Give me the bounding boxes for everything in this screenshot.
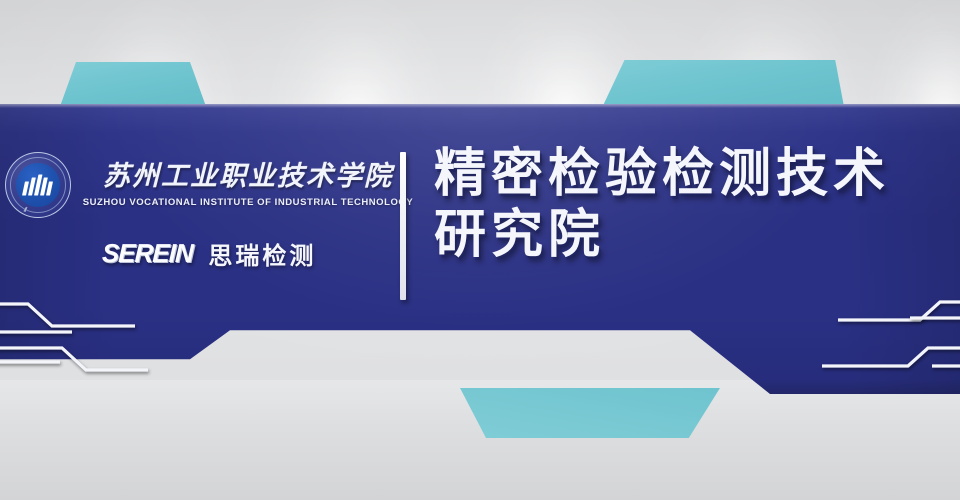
institute-title-line2: 研究院 (434, 205, 960, 266)
institute-title-line1: 精密检验检测技术 (434, 144, 960, 205)
university-text: 苏州工业职业技术学院 SUZHOU VOCATIONAL INSTITUTE O… (83, 162, 414, 208)
university-name-cn: 苏州工业职业技术学院 (103, 162, 393, 192)
brand-column: 苏州工业职业技术学院 SUZHOU VOCATIONAL INSTITUTE O… (0, 104, 400, 271)
teal-bottom (460, 388, 720, 438)
company-name-cn: 思瑞检测 (208, 236, 316, 271)
signage-scene: 苏州工业职业技术学院 SUZHOU VOCATIONAL INSTITUTE O… (0, 0, 960, 500)
panel-content: 苏州工业职业技术学院 SUZHOU VOCATIONAL INSTITUTE O… (0, 104, 960, 394)
title-column: 精密检验检测技术 研究院 (406, 104, 960, 267)
university-lockup: 苏州工业职业技术学院 SUZHOU VOCATIONAL INSTITUTE O… (5, 152, 414, 218)
company-name-en: SEREIN (101, 238, 193, 269)
company-lockup: SEREIN 思瑞检测 (102, 236, 317, 271)
spotlight-5 (845, 0, 960, 120)
university-name-en: SUZHOU VOCATIONAL INSTITUTE OF INDUSTRIA… (83, 197, 414, 208)
suzhou-institute-emblem-icon (5, 152, 71, 218)
